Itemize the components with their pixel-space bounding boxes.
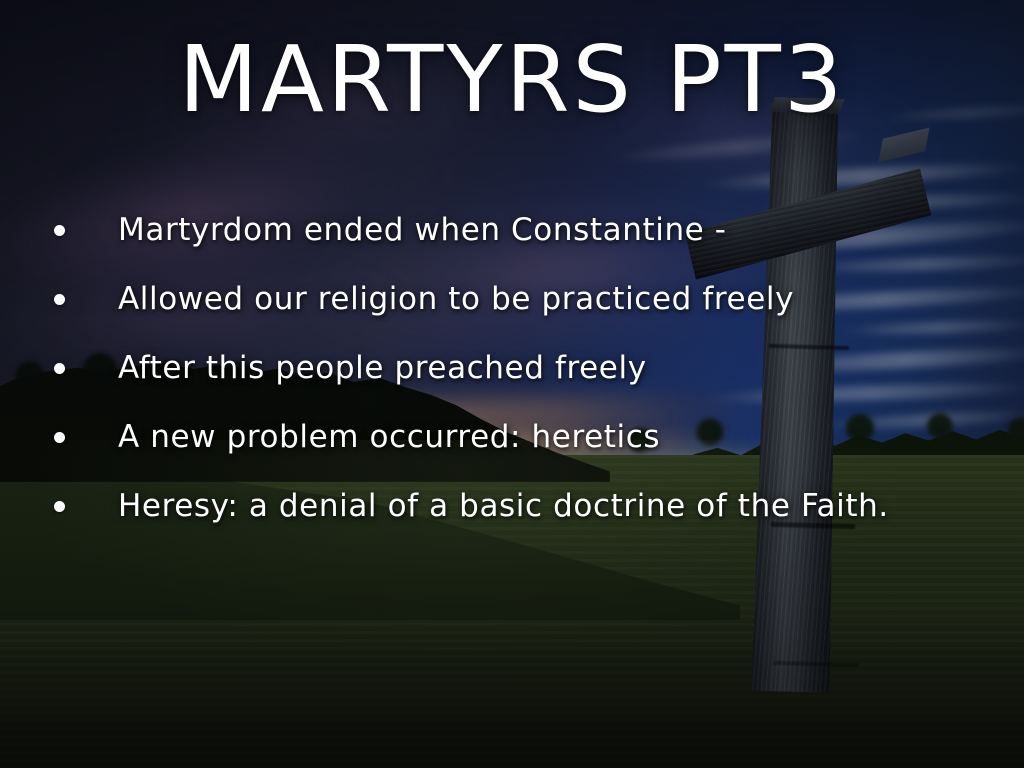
- bullet-list: Martyrdom ended when Constantine - Allow…: [40, 196, 1000, 541]
- slide-title: MARTYRS PT3: [0, 34, 1024, 126]
- bullet-dot-icon: [54, 501, 65, 512]
- bullet-item: Allowed our religion to be practiced fre…: [40, 265, 1000, 334]
- bullet-text: Heresy: a denial of a basic doctrine of …: [118, 489, 889, 523]
- bullet-text: Martyrdom ended when Constantine -: [118, 213, 727, 247]
- presentation-slide: MARTYRS PT3 Martyrdom ended when Constan…: [0, 0, 1024, 768]
- bullet-item: After this people preached freely: [40, 334, 1000, 403]
- bullet-text: A new problem occurred: heretics: [118, 420, 660, 454]
- bullet-item: Martyrdom ended when Constantine -: [40, 196, 1000, 265]
- bullet-dot-icon: [54, 432, 65, 443]
- bullet-item: Heresy: a denial of a basic doctrine of …: [40, 472, 1000, 541]
- bullet-dot-icon: [54, 363, 65, 374]
- bullet-text: Allowed our religion to be practiced fre…: [118, 282, 794, 316]
- bullet-text: After this people preached freely: [118, 351, 647, 385]
- bullet-dot-icon: [54, 294, 65, 305]
- bullet-item: A new problem occurred: heretics: [40, 403, 1000, 472]
- bullet-dot-icon: [54, 225, 65, 236]
- slide-content: MARTYRS PT3 Martyrdom ended when Constan…: [0, 0, 1024, 768]
